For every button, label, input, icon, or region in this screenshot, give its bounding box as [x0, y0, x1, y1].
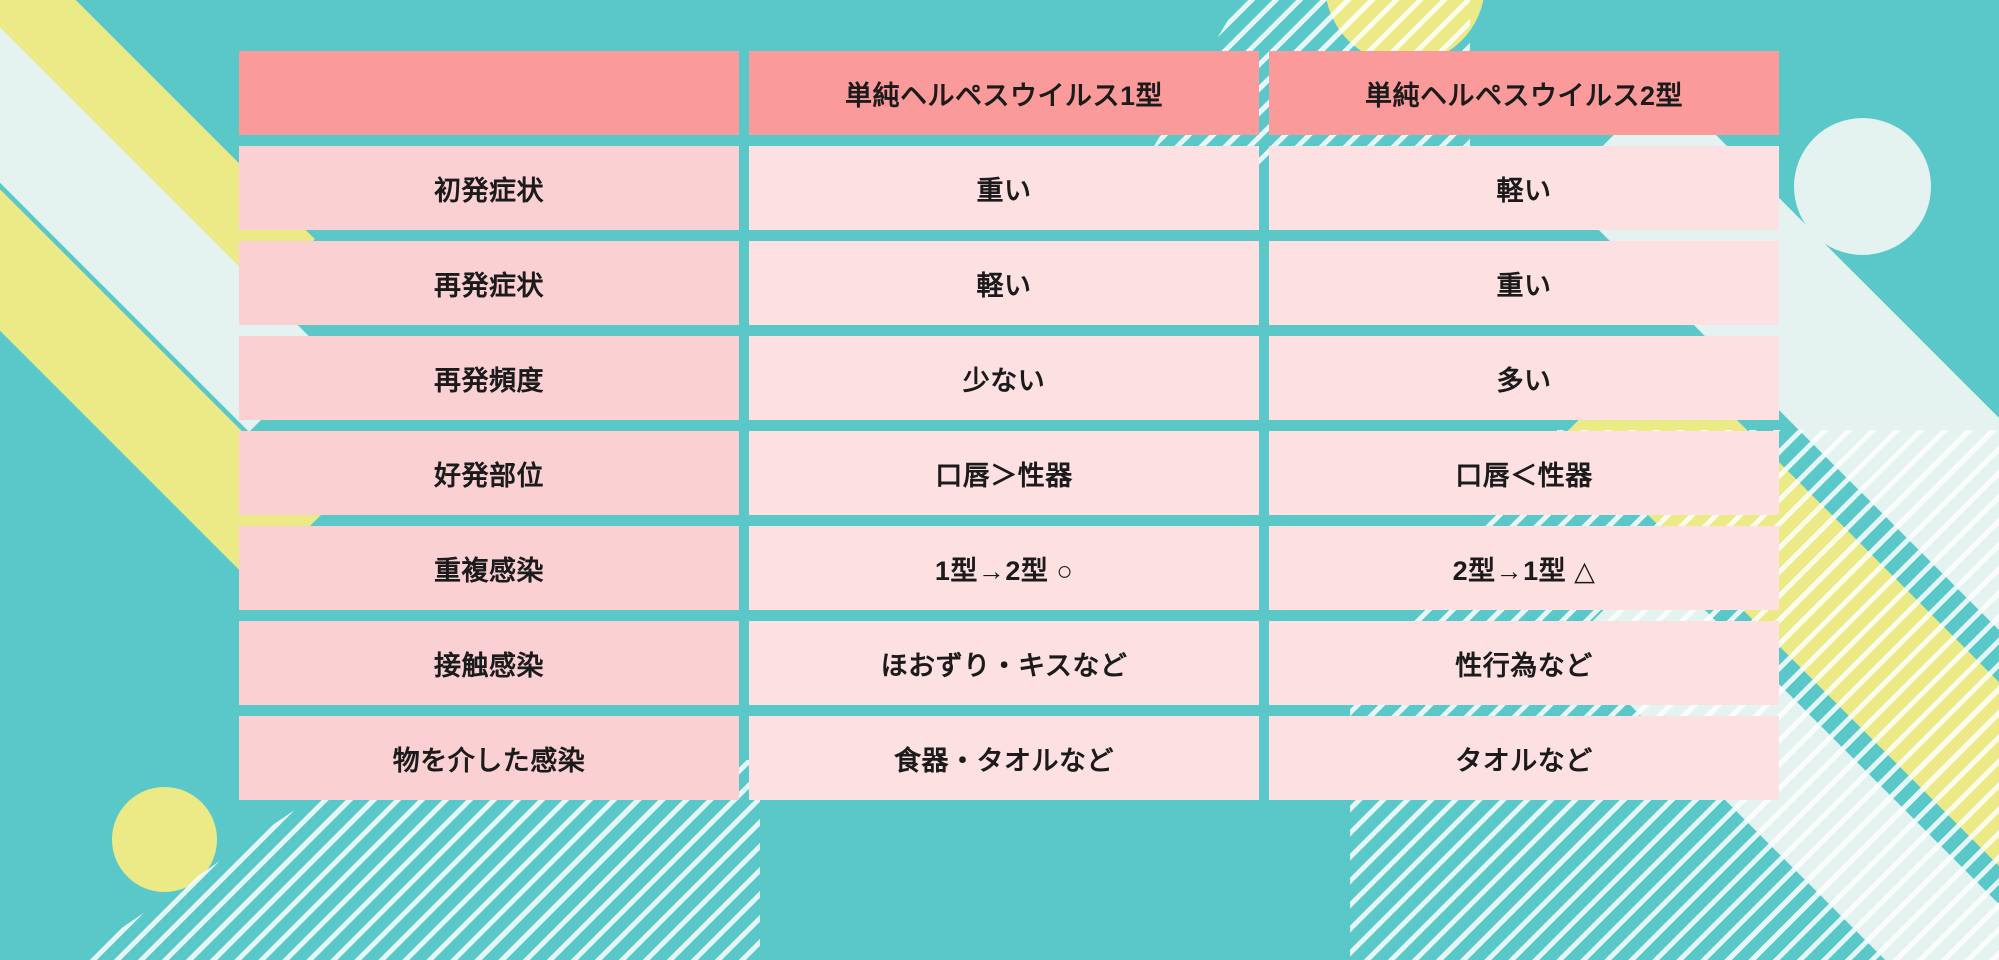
table-row: 好発部位口唇＞性器口唇＜性器 [239, 431, 1779, 515]
row-label-7: 物を介した感染 [239, 716, 739, 800]
cell-r7-c2: タオルなど [1269, 716, 1779, 800]
row-label-6: 接触感染 [239, 621, 739, 705]
column-header-1: 単純ヘルペスウイルス1型 [749, 51, 1259, 135]
comparison-table-container: 単純ヘルペスウイルス1型単純ヘルペスウイルス2型初発症状重い軽い再発症状軽い重い… [229, 40, 1769, 811]
table-row: 接触感染ほおずり・キスなど性行為など [239, 621, 1779, 705]
row-label-5: 重複感染 [239, 526, 739, 610]
cell-r1-c1: 重い [749, 146, 1259, 230]
cell-r4-c2: 口唇＜性器 [1269, 431, 1779, 515]
cell-r3-c2: 多い [1269, 336, 1779, 420]
table-row: 再発症状軽い重い [239, 241, 1779, 325]
row-label-2: 再発症状 [239, 241, 739, 325]
cell-r4-c1: 口唇＞性器 [749, 431, 1259, 515]
cell-r2-c2: 重い [1269, 241, 1779, 325]
column-header-2: 単純ヘルペスウイルス2型 [1269, 51, 1779, 135]
row-label-1: 初発症状 [239, 146, 739, 230]
cell-r2-c1: 軽い [749, 241, 1259, 325]
table-row: 再発頻度少ない多い [239, 336, 1779, 420]
table-header-row: 単純ヘルペスウイルス1型単純ヘルペスウイルス2型 [239, 51, 1779, 135]
table-row: 物を介した感染食器・タオルなどタオルなど [239, 716, 1779, 800]
table-corner-cell [239, 51, 739, 135]
cell-r1-c2: 軽い [1269, 146, 1779, 230]
cell-r7-c1: 食器・タオルなど [749, 716, 1259, 800]
table-row: 重複感染1型→2型 ○2型→1型 △ [239, 526, 1779, 610]
table-row: 初発症状重い軽い [239, 146, 1779, 230]
cell-r6-c2: 性行為など [1269, 621, 1779, 705]
row-label-4: 好発部位 [239, 431, 739, 515]
cell-r5-c2: 2型→1型 △ [1269, 526, 1779, 610]
herpes-virus-comparison-table: 単純ヘルペスウイルス1型単純ヘルペスウイルス2型初発症状重い軽い再発症状軽い重い… [229, 40, 1789, 811]
cell-r3-c1: 少ない [749, 336, 1259, 420]
cell-r5-c1: 1型→2型 ○ [749, 526, 1259, 610]
mint-circle-right [1794, 118, 1931, 255]
row-label-3: 再発頻度 [239, 336, 739, 420]
cell-r6-c1: ほおずり・キスなど [749, 621, 1259, 705]
